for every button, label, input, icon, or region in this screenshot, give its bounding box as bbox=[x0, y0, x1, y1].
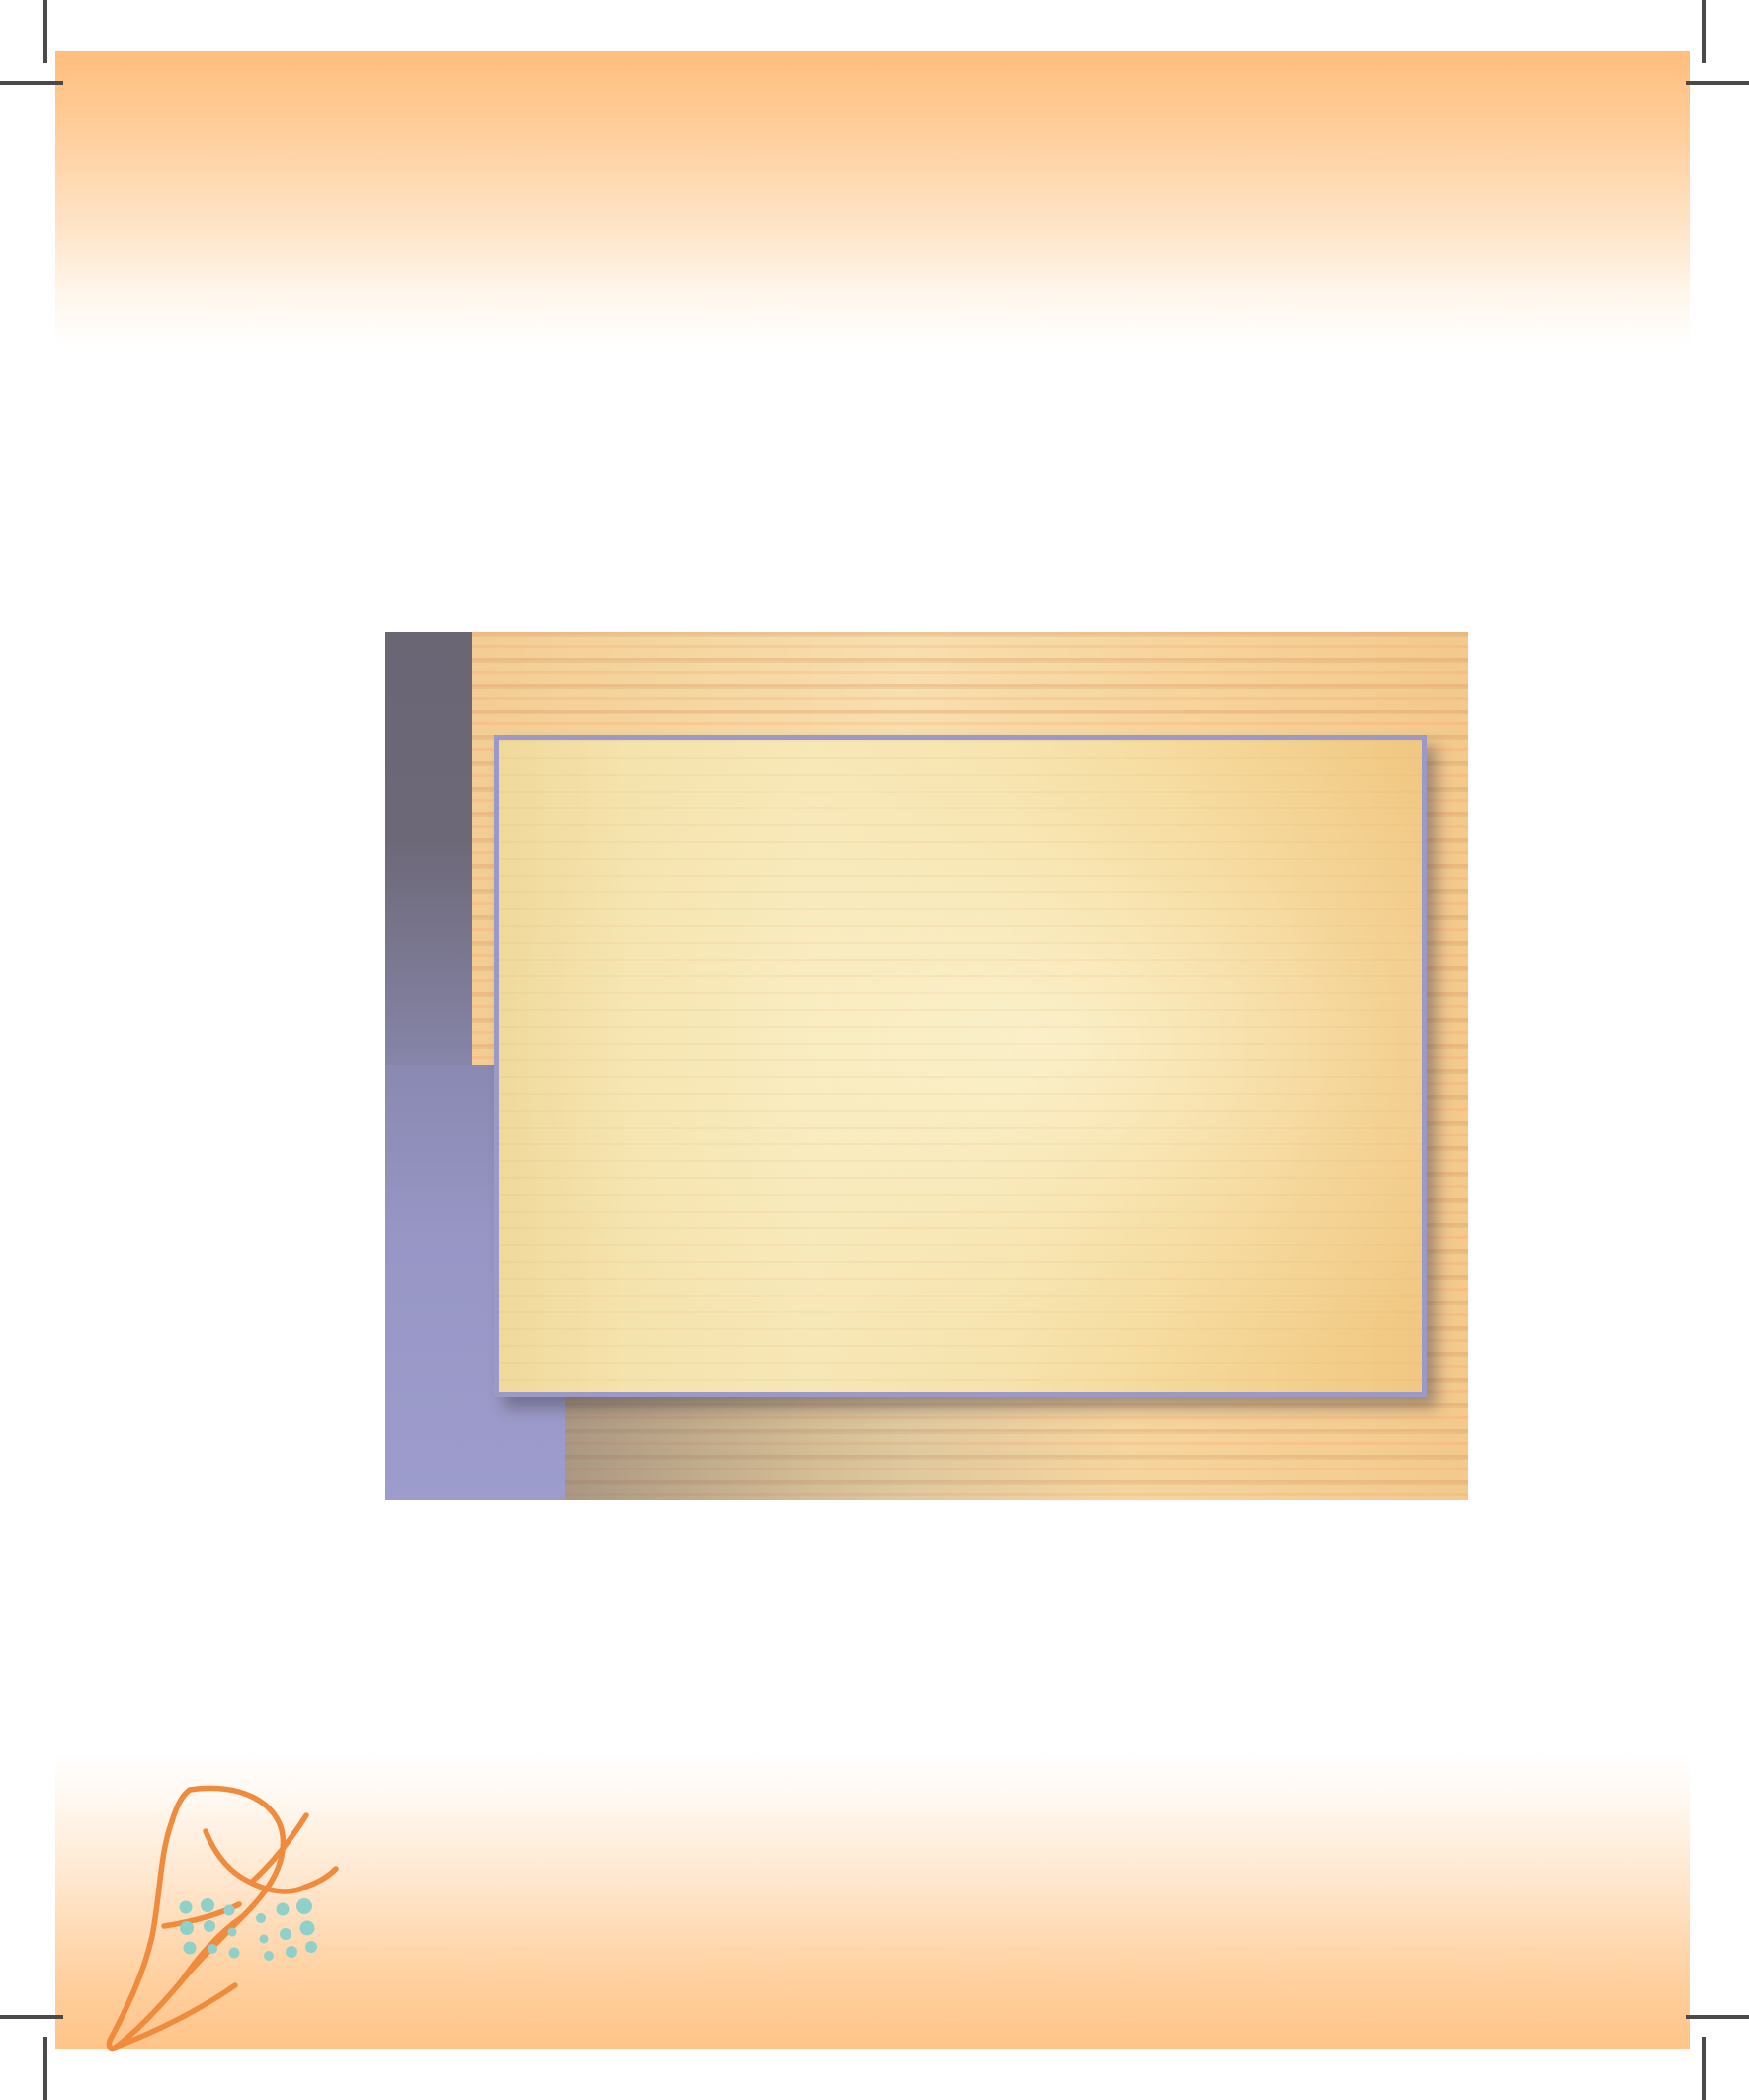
slide-content-panel bbox=[494, 735, 1427, 1397]
presentation-slide bbox=[385, 632, 1468, 1500]
crop-mark-bottom-right-horizontal bbox=[1686, 2015, 1749, 2019]
crop-mark-bottom-right-vertical bbox=[1702, 2037, 1706, 2100]
crop-mark-bottom-left-horizontal bbox=[0, 2015, 63, 2019]
crop-mark-top-left-vertical bbox=[43, 0, 47, 63]
crop-mark-top-right-vertical bbox=[1702, 0, 1706, 63]
panel-texture bbox=[499, 740, 1422, 1392]
crop-mark-bottom-left-vertical bbox=[43, 2037, 47, 2100]
textbook-page bbox=[0, 0, 1749, 2100]
slide-bottom-shading bbox=[565, 1393, 1468, 1500]
crop-mark-top-left-horizontal bbox=[0, 81, 63, 85]
footer-logo-group bbox=[95, 1778, 352, 2064]
leaf-logo-icon bbox=[95, 1778, 352, 2064]
decorative-band-top bbox=[55, 51, 1690, 348]
crop-mark-top-right-horizontal bbox=[1686, 81, 1749, 85]
decorative-column-left bbox=[55, 326, 292, 1774]
